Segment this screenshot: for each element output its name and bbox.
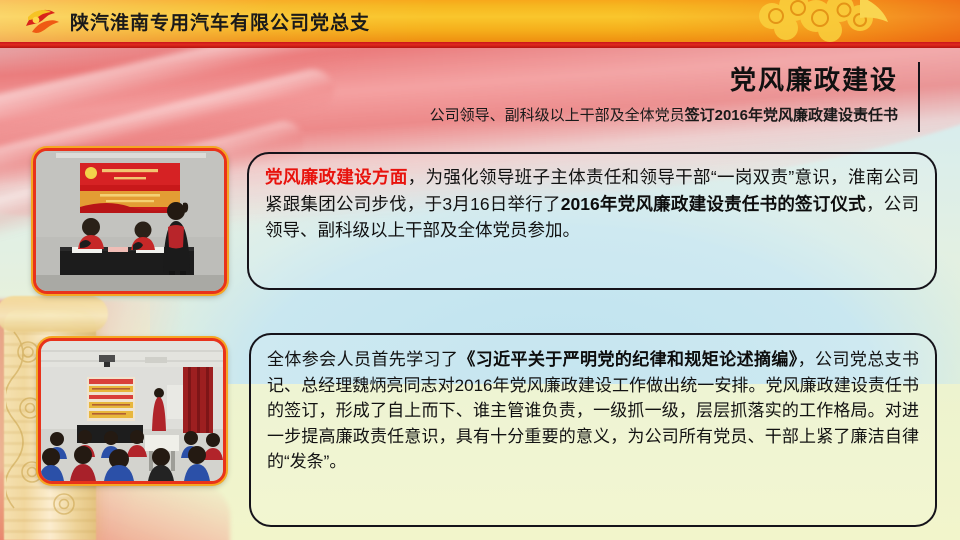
box1-highlight-red: 党风廉政建设方面 [265,167,408,187]
box1-highlight-bold: 2016年党风廉政建设责任书的签订仪式 [561,194,866,214]
page-title: 党风廉政建设 [730,60,898,97]
party-emblem-icon [22,6,60,36]
text-box-primary: 党风廉政建设方面，为强化领导班子主体责任和领导干部“一岗双责”意识，淮南公司紧跟… [247,152,937,290]
background-pillar-cap [0,296,108,332]
text-box-secondary: 全体参会人员首先学习了《习近平关于严明党的纪律和规矩论述摘编》，公司党总支书记、… [249,333,937,527]
box2-book-title: 《习近平关于严明党的纪律和规矩论述摘编》 [458,350,797,369]
slide-canvas: 陕汽淮南专用汽车有限公司党总支 党风廉政建设 公司领导、副科级以上干部及全体党员… [0,0,960,540]
meeting-room-photo [38,338,226,484]
meeting-room-image [41,341,223,481]
header-red-stripe [0,42,960,48]
subtitle-normal-part: 公司领导、副科级以上干部及全体党员 [430,107,685,124]
header-org-title: 陕汽淮南专用汽车有限公司党总支 [70,8,370,35]
golden-cloud-ornament-icon [748,0,898,42]
title-vertical-rule [918,62,920,132]
signing-ceremony-image [36,151,224,291]
box1-seg2: ，为强化领导班子主体责任和领导干部 [408,167,711,187]
page-subtitle: 公司领导、副科级以上干部及全体党员签订2016年党风廉政建设责任书 [430,104,898,125]
subtitle-bold-part: 签订2016年党风廉政建设责任书 [685,107,898,124]
signing-ceremony-photo [33,148,227,294]
text-box-secondary-body: 全体参会人员首先学习了《习近平关于严明党的纪律和规矩论述摘编》，公司党总支书记、… [251,335,935,475]
box2-seg1: 全体参会人员首先学习了 [267,350,458,369]
header-bar: 陕汽淮南专用汽车有限公司党总支 [0,0,960,42]
text-box-primary-body: 党风廉政建设方面，为强化领导班子主体责任和领导干部“一岗双责”意识，淮南公司紧跟… [249,154,935,244]
